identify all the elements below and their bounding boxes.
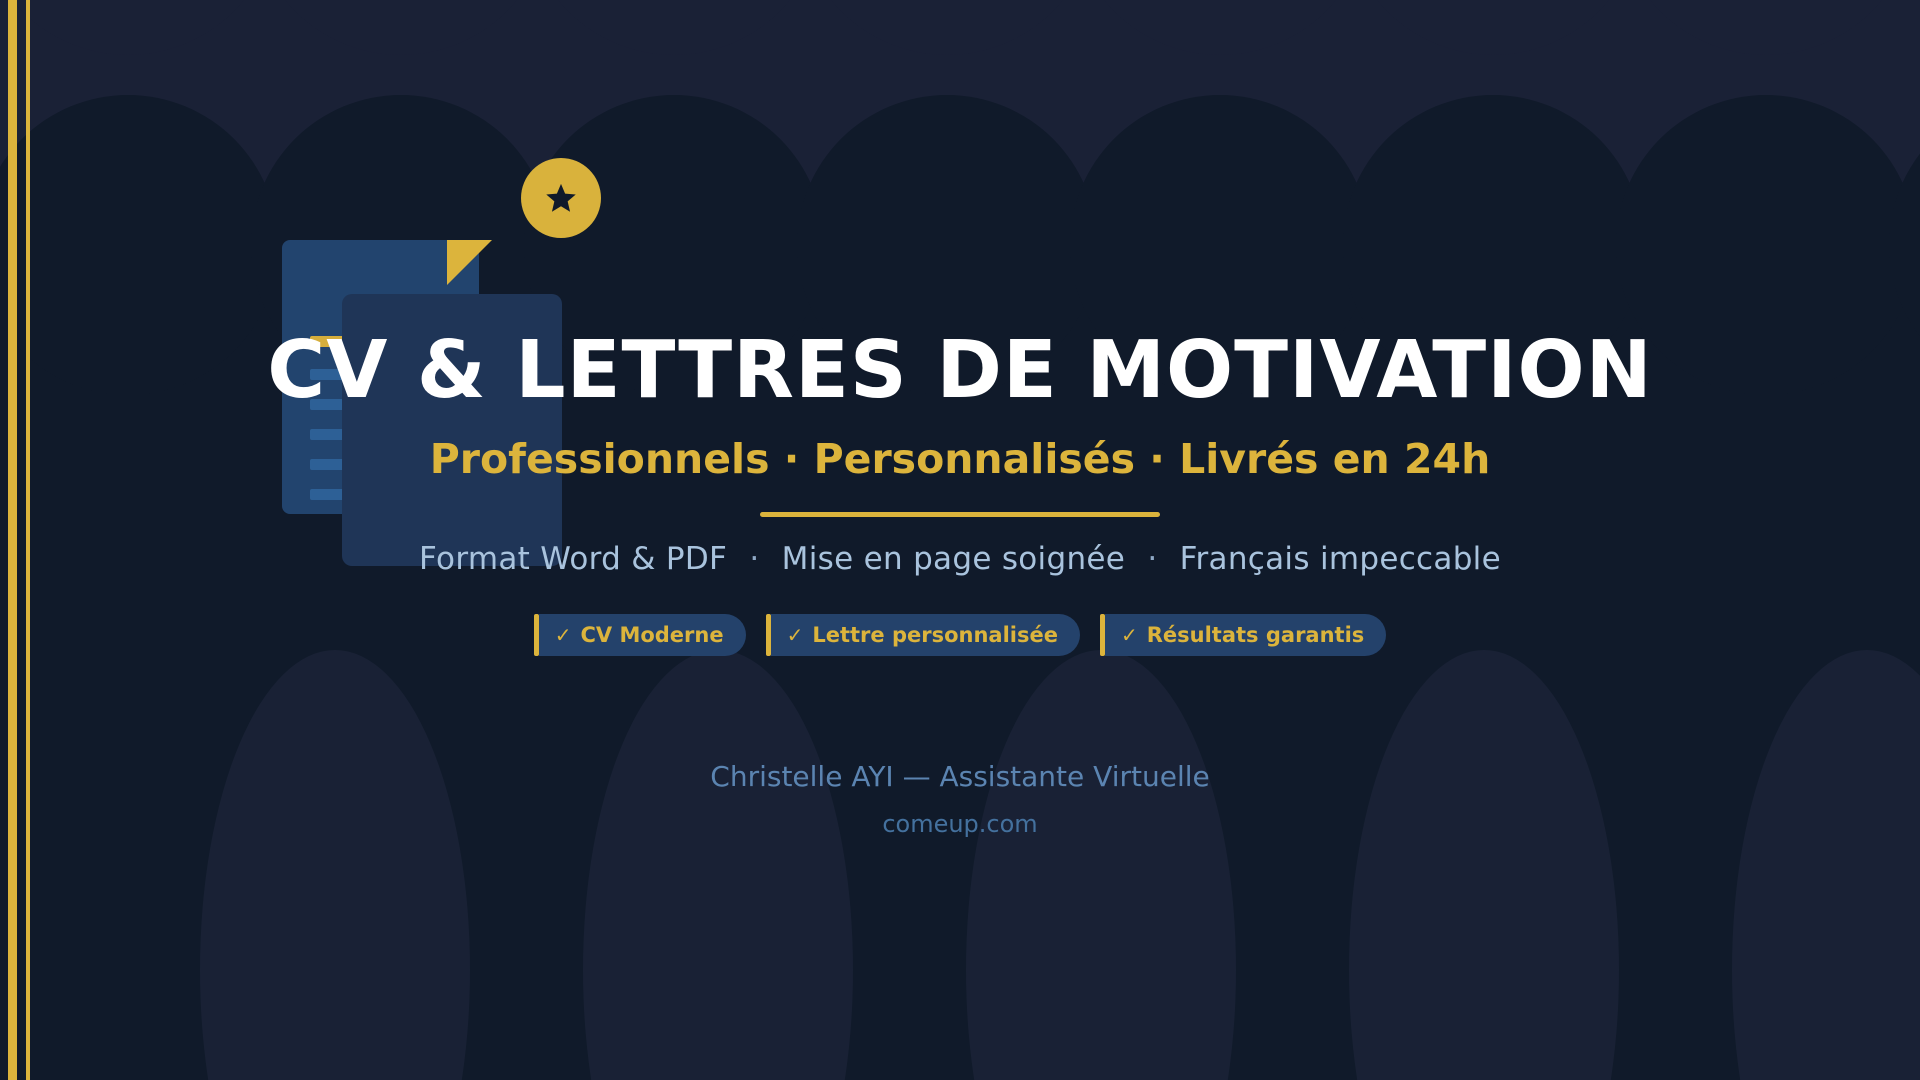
badge-resultats-garantis[interactable]: ✓ Résultats garantis [1100, 614, 1386, 656]
check-icon: ✓ [787, 623, 804, 647]
badge-body: ✓ CV Moderne [539, 614, 746, 656]
feature-item: Mise en page soignée [782, 541, 1126, 577]
badge-lettre-personnalisee[interactable]: ✓ Lettre personnalisée [766, 614, 1080, 656]
hero-content: CV & LETTRES DE MOTIVATION Professionnel… [0, 0, 1920, 1080]
feature-list: Format Word & PDF · Mise en page soignée… [419, 544, 1501, 575]
feature-separator: · [1135, 541, 1169, 577]
author-name: Christelle AYI — Assistante Virtuelle [710, 763, 1209, 791]
badge-body: ✓ Lettre personnalisée [771, 614, 1080, 656]
badge-accent-bar [766, 614, 771, 656]
badge-cv-moderne[interactable]: ✓ CV Moderne [534, 614, 746, 656]
badge-row: ✓ CV Moderne ✓ Lettre personnalisée ✓ Ré… [534, 614, 1387, 656]
page-title: CV & LETTRES DE MOTIVATION [267, 331, 1653, 410]
feature-separator: · [737, 541, 771, 577]
badge-accent-bar [534, 614, 539, 656]
site-url[interactable]: comeup.com [882, 812, 1037, 836]
gold-divider [760, 512, 1160, 517]
badge-label: CV Moderne [580, 623, 723, 647]
feature-item: Français impeccable [1180, 541, 1501, 577]
check-icon: ✓ [1121, 623, 1138, 647]
check-icon: ✓ [555, 623, 572, 647]
badge-body: ✓ Résultats garantis [1105, 614, 1386, 656]
badge-label: Lettre personnalisée [812, 623, 1058, 647]
slide-canvas: CV & LETTRES DE MOTIVATION Professionnel… [0, 0, 1920, 1080]
badge-label: Résultats garantis [1147, 623, 1365, 647]
feature-item: Format Word & PDF [419, 541, 727, 577]
page-subtitle: Professionnels · Personnalisés · Livrés … [430, 439, 1491, 480]
